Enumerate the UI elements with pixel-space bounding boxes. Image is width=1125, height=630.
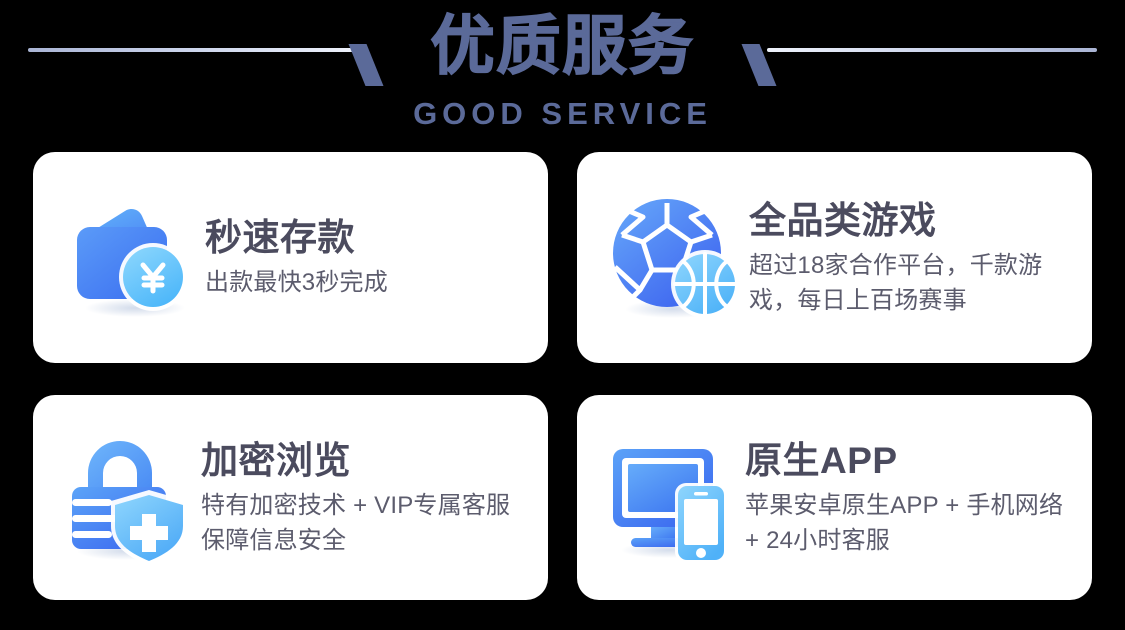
card-text-block: 全品类游戏 超过18家合作平台，千款游戏，每日上百场赛事 [745, 198, 1092, 318]
feature-card-deposit[interactable]: 秒速存款 出款最快3秒完成 [33, 152, 548, 363]
feature-card-native-app[interactable]: 原生APP 苹果安卓原生APP + 手机网络 + 24小时客服 [577, 395, 1092, 600]
card-text-block: 原生APP 苹果安卓原生APP + 手机网络 + 24小时客服 [741, 438, 1092, 558]
banner-header: 优质服务 GOOD SERVICE [0, 0, 1125, 145]
card-description: 苹果安卓原生APP + 手机网络 + 24小时客服 [745, 488, 1078, 558]
wallet-yen-icon [63, 189, 201, 327]
card-description: 出款最快3秒完成 [205, 265, 534, 300]
promo-banner: 优质服务 GOOD SERVICE [0, 0, 1125, 630]
card-title: 原生APP [745, 438, 1078, 484]
soccer-basketball-icon [607, 189, 745, 327]
card-title: 加密浏览 [201, 438, 534, 484]
card-title: 全品类游戏 [749, 198, 1078, 244]
card-text-block: 加密浏览 特有加密技术 + VIP专属客服保障信息安全 [197, 438, 548, 558]
page-subtitle: GOOD SERVICE [0, 96, 1125, 132]
feature-card-games[interactable]: 全品类游戏 超过18家合作平台，千款游戏，每日上百场赛事 [577, 152, 1092, 363]
lock-shield-icon [59, 429, 197, 567]
card-description: 特有加密技术 + VIP专属客服保障信息安全 [201, 488, 534, 558]
card-description: 超过18家合作平台，千款游戏，每日上百场赛事 [749, 248, 1078, 318]
card-text-block: 秒速存款 出款最快3秒完成 [201, 215, 548, 300]
page-title: 优质服务 [0, 8, 1125, 86]
feature-card-grid: 秒速存款 出款最快3秒完成 [33, 152, 1092, 600]
monitor-phone-icon [603, 429, 741, 567]
feature-card-encryption[interactable]: 加密浏览 特有加密技术 + VIP专属客服保障信息安全 [33, 395, 548, 600]
card-title: 秒速存款 [205, 215, 534, 261]
